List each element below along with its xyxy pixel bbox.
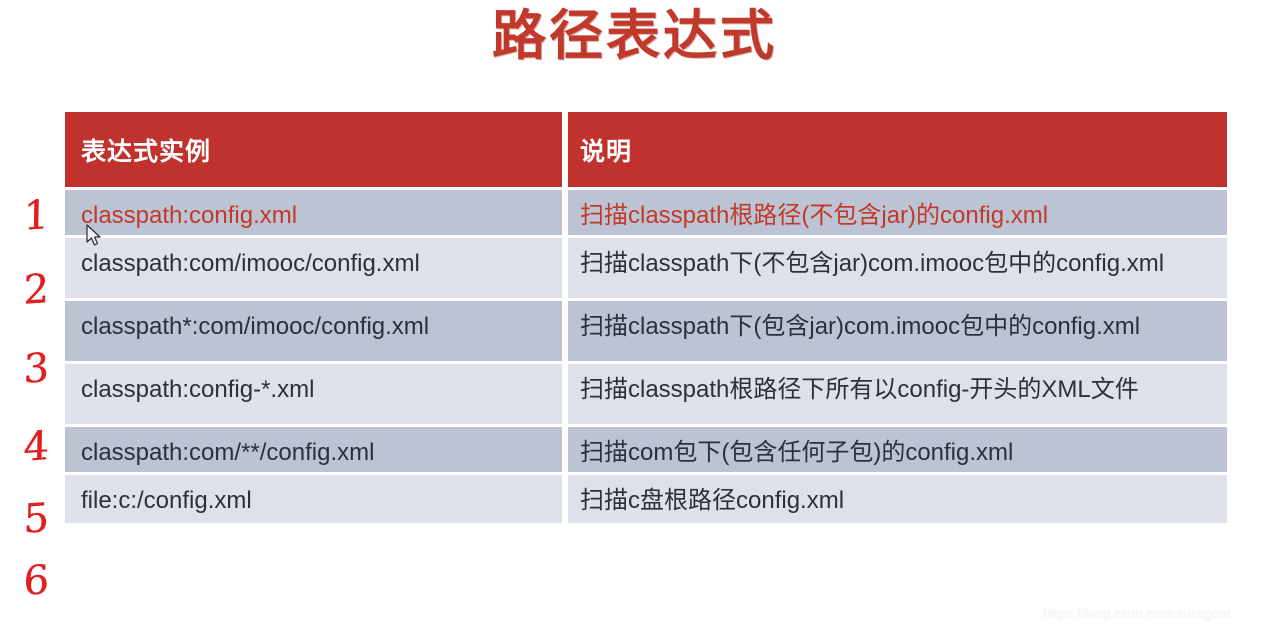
table-header-row: 表达式实例 说明 [65, 112, 1227, 187]
margin-number-4: 4 [7, 410, 64, 492]
table-row[interactable]: classpath*:com/imooc/config.xml 扫描classp… [65, 301, 1227, 361]
cell-expression: classpath:config.xml [65, 190, 562, 235]
cell-description: 扫描c盘根路径config.xml [568, 475, 1227, 523]
cell-expression: classpath:com/**/config.xml [65, 427, 562, 472]
margin-number-2: 2 [7, 252, 64, 336]
column-header-description: 说明 [568, 112, 1227, 187]
cell-expression: classpath:com/imooc/config.xml [65, 238, 562, 298]
column-header-expression: 表达式实例 [65, 112, 562, 187]
cell-description: 扫描classpath根路径(不包含jar)的config.xml [568, 190, 1227, 235]
table-row[interactable]: classpath:config.xml 扫描classpath根路径(不包含j… [65, 190, 1227, 235]
cell-expression: classpath:config-*.xml [65, 364, 562, 424]
cell-description: 扫描classpath下(不包含jar)com.imooc包中的config.x… [568, 238, 1227, 298]
path-expression-table: 表达式实例 说明 classpath:config.xml 扫描classpat… [65, 112, 1227, 526]
table-row[interactable]: file:c:/config.xml 扫描c盘根路径config.xml [65, 475, 1227, 523]
cell-description: 扫描com包下(包含任何子包)的config.xml [568, 427, 1227, 472]
cell-expression: classpath*:com/imooc/config.xml [65, 301, 562, 361]
table-row[interactable]: classpath:com/imooc/config.xml 扫描classpa… [65, 238, 1227, 298]
table-row[interactable]: classpath:com/**/config.xml 扫描com包下(包含任何… [65, 427, 1227, 472]
arrow-pointer-icon [86, 224, 104, 248]
cell-description: 扫描classpath根路径下所有以config-开头的XML文件 [568, 364, 1227, 424]
watermark-text: https://blog.csdn.net/csucsgoat [1043, 606, 1231, 621]
margin-number-5: 5 [8, 488, 65, 555]
table-row[interactable]: classpath:config-*.xml 扫描classpath根路径下所有… [65, 364, 1227, 424]
cell-description: 扫描classpath下(包含jar)com.imooc包中的config.xm… [568, 301, 1227, 361]
page-title: 路径表达式 [0, 0, 1269, 72]
cell-expression: file:c:/config.xml [65, 475, 562, 523]
margin-annotation-list: 1 2 3 4 5 6 [8, 188, 64, 613]
margin-number-1: 1 [7, 186, 64, 256]
margin-number-3: 3 [7, 332, 64, 414]
margin-number-6: 6 [8, 551, 65, 615]
